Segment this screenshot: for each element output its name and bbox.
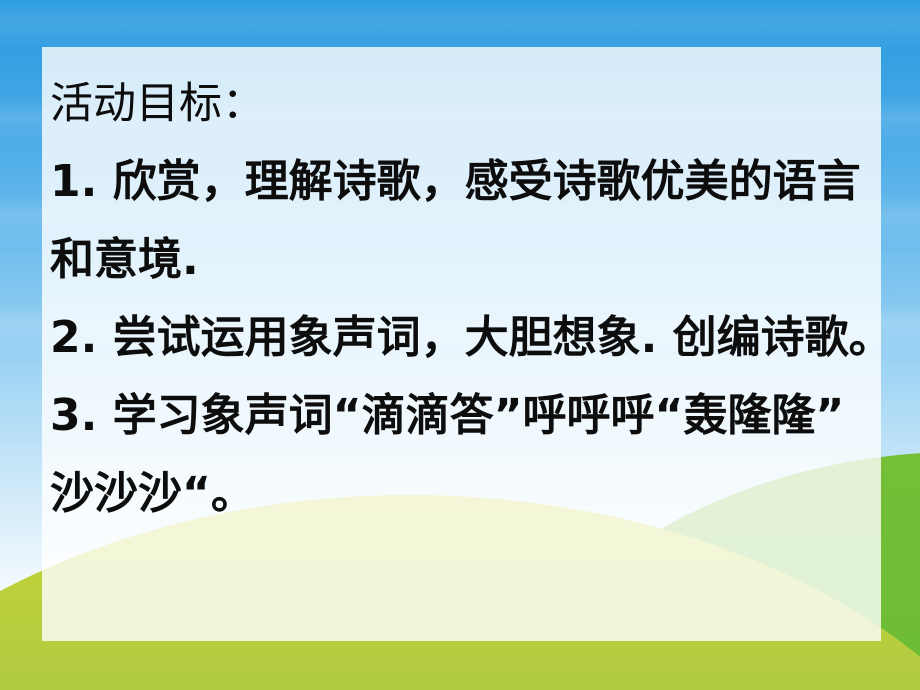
objective-line-3: 3. 学习象声词“滴滴答”呼呼呼“轰隆隆” [50, 377, 873, 455]
objective-line-1-continued: 和意境. [50, 221, 873, 299]
objective-line-2: 2. 尝试运用象声词，大胆想象. 创编诗歌。 [50, 299, 873, 377]
objective-line-1: 1. 欣赏，理解诗歌，感受诗歌优美的语言 [50, 143, 873, 221]
content-text-block: 活动目标： 1. 欣赏，理解诗歌，感受诗歌优美的语言 和意境. 2. 尝试运用象… [50, 65, 873, 641]
objective-line-3-continued: 沙沙沙“。 [50, 455, 873, 533]
slide-canvas: 活动目标： 1. 欣赏，理解诗歌，感受诗歌优美的语言 和意境. 2. 尝试运用象… [0, 0, 920, 690]
objectives-title: 活动目标： [50, 65, 873, 143]
content-panel: 活动目标： 1. 欣赏，理解诗歌，感受诗歌优美的语言 和意境. 2. 尝试运用象… [42, 47, 881, 641]
